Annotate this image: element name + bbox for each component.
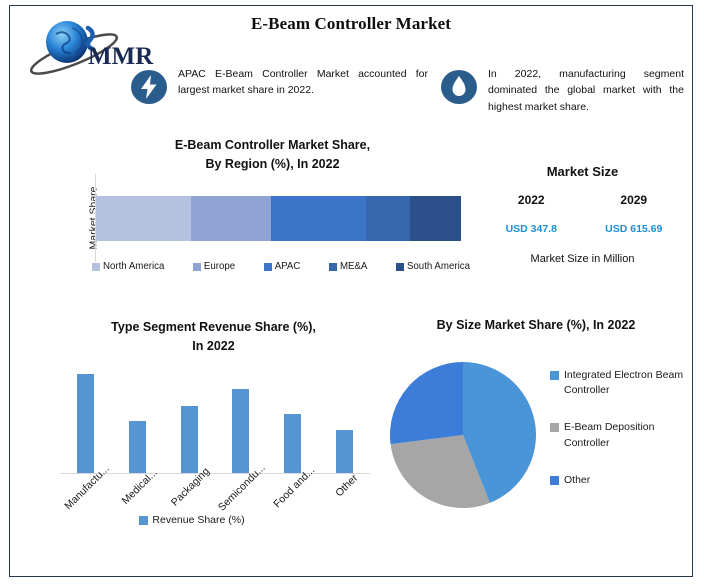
region-segment	[410, 196, 461, 241]
highlight-apac-text: APAC E-Beam Controller Market accounted …	[178, 66, 428, 99]
region-segment	[366, 196, 410, 241]
type-segment-legend-item: Revenue Share (%)	[139, 514, 244, 526]
header: E-Beam Controller Market MMR	[10, 6, 692, 128]
market-size-heading: Market Size	[480, 164, 685, 179]
pie-legend-item: E-Beam Deposition Controller	[550, 420, 690, 450]
market-size-2022: 2022 USD 347.8	[480, 193, 583, 235]
x-label-slot: Food and...	[267, 476, 319, 538]
pie-legend-label: E-Beam Deposition Controller	[564, 420, 690, 450]
market-size-2029-year: 2029	[583, 193, 686, 207]
bar	[336, 430, 353, 473]
pie-slice	[390, 362, 463, 444]
type-segment-bars	[60, 364, 370, 473]
x-label-slot: Other	[318, 476, 370, 538]
bar-slot	[112, 364, 164, 473]
pie-legend-label: Other	[564, 473, 590, 488]
region-legend-item: Europe	[193, 261, 235, 272]
highlight-manufacturing: In 2022, manufacturing segment dominated…	[440, 66, 688, 115]
legend-swatch	[550, 423, 559, 432]
region-legend-label: Europe	[204, 261, 235, 272]
bar-slot	[163, 364, 215, 473]
highlight-manufacturing-text: In 2022, manufacturing segment dominated…	[488, 66, 684, 115]
highlight-apac: APAC E-Beam Controller Market accounted …	[130, 66, 450, 106]
size-share-legend: Integrated Electron Beam ControllerE-Bea…	[550, 368, 690, 510]
region-legend: North AmericaEuropeAPACME&ASouth America	[92, 261, 470, 272]
region-chart-title: E-Beam Controller Market Share, By Regio…	[50, 136, 470, 174]
region-legend-item: ME&A	[329, 261, 367, 272]
region-segment	[191, 196, 271, 241]
region-legend-label: North America	[103, 261, 164, 272]
bar	[129, 421, 146, 473]
pie-legend-item: Integrated Electron Beam Controller	[550, 368, 690, 398]
legend-swatch	[193, 263, 201, 271]
bar	[232, 389, 249, 473]
type-segment-x-labels: Manufactu...Medical...PackagingSemicondu…	[60, 476, 370, 538]
bar-slot	[318, 364, 370, 473]
type-segment-legend-label: Revenue Share (%)	[152, 514, 244, 526]
region-legend-item: APAC	[264, 261, 301, 272]
market-size-2029: 2029 USD 615.69	[583, 193, 686, 235]
legend-swatch	[550, 476, 559, 485]
bar	[284, 414, 301, 473]
x-label-slot: Packaging	[163, 476, 215, 538]
x-label-slot: Manufactu...	[60, 476, 112, 538]
bar	[181, 406, 198, 473]
x-label-slot: Semicondu...	[215, 476, 267, 538]
market-size-2022-year: 2022	[480, 193, 583, 207]
pie-legend-label: Integrated Electron Beam Controller	[564, 368, 690, 398]
region-share-chart: E-Beam Controller Market Share, By Regio…	[50, 136, 470, 291]
size-share-pie	[388, 360, 538, 510]
legend-swatch	[329, 263, 337, 271]
size-share-title: By Size Market Share (%), In 2022	[380, 318, 692, 332]
type-segment-legend: Revenue Share (%)	[32, 514, 352, 526]
market-size-2029-value: USD 615.69	[583, 223, 686, 235]
bar-slot	[267, 364, 319, 473]
region-legend-item: South America	[396, 261, 470, 272]
region-legend-label: APAC	[275, 261, 301, 272]
bar-slot	[60, 364, 112, 473]
market-size-panel: Market Size 2022 USD 347.8 2029 USD 615.…	[480, 164, 685, 265]
market-size-2022-value: USD 347.8	[480, 223, 583, 235]
type-segment-chart: Type Segment Revenue Share (%), In 2022 …	[32, 318, 377, 568]
market-size-footer: Market Size in Million	[480, 253, 685, 265]
pie-svg	[388, 360, 538, 510]
region-plot-area: Market Share	[50, 182, 470, 254]
region-stacked-bar	[96, 196, 461, 241]
region-segment	[271, 196, 366, 241]
region-legend-label: South America	[407, 261, 470, 272]
legend-swatch	[264, 263, 272, 271]
legend-swatch	[139, 516, 148, 525]
type-segment-title: Type Segment Revenue Share (%), In 2022	[32, 318, 377, 357]
x-axis-label: Other	[333, 472, 360, 499]
type-segment-plot-area	[60, 364, 370, 474]
legend-swatch	[396, 263, 404, 271]
size-share-chart: By Size Market Share (%), In 2022 Integr…	[380, 318, 692, 558]
lightning-bolt-icon	[130, 68, 168, 106]
infographic-canvas: E-Beam Controller Market MMR	[9, 5, 693, 577]
x-label-slot: Medical...	[112, 476, 164, 538]
legend-swatch	[550, 371, 559, 380]
region-legend-item: North America	[92, 261, 164, 272]
legend-swatch	[92, 263, 100, 271]
bar	[77, 374, 94, 473]
pie-legend-item: Other	[550, 473, 690, 488]
bar-slot	[215, 364, 267, 473]
region-segment	[96, 196, 191, 241]
flame-icon	[440, 68, 478, 106]
region-legend-label: ME&A	[340, 261, 367, 272]
